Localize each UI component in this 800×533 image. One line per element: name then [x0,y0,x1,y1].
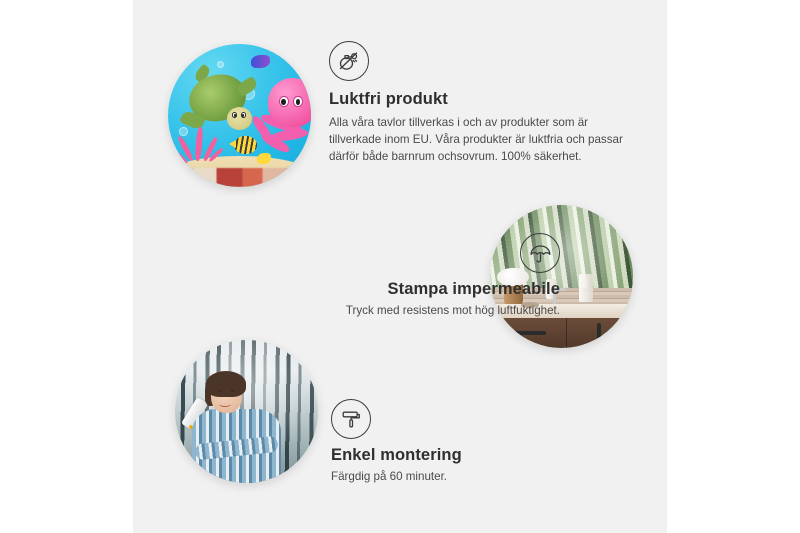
scene-bottom-strip [168,168,311,187]
woman-eye [231,390,234,392]
feature-title: Luktfri produkt [329,89,627,110]
feature-easy-mounting: Enkel montering Färgdig på 60 minuter. [331,399,611,486]
feature-waterproof: Stampa impermeabile Tryck med resistens … [219,233,560,320]
feature-odour-free: Luktfri produkt Alla våra tavlor tillver… [329,41,627,166]
octopus-head [268,78,311,127]
wood-cabinet [493,318,633,348]
woman-hair [206,371,246,397]
cabinet-seam [566,318,567,348]
coral-plant [177,127,226,170]
yellow-fish-icon [234,136,257,155]
turtle-head [227,107,253,130]
toiletry-bottle [579,274,593,303]
forest-mural-scene [175,340,318,483]
woman-with-paint-roller-photo [175,340,318,483]
feature-description: Färgdig på 60 minuter. [331,469,611,486]
turtle-eye [232,112,238,118]
door-handle [597,323,601,340]
paint-roller-icon [331,399,371,439]
feature-title: Stampa impermeabile [219,279,560,300]
octopus-eye [279,96,289,108]
drawer-handle [510,331,546,335]
page-root: Luktfri produkt Alla våra tavlor tillver… [0,0,800,533]
bubble-icon [217,61,224,68]
octopus-eye [293,96,303,108]
feature-description: Tryck med resistens mot hög luftfuktighe… [219,303,560,320]
no-odour-icon [329,41,369,81]
underwater-kids-mural-photo [168,44,311,187]
turtle-eye [241,112,247,118]
feature-title: Enkel montering [331,445,611,466]
feature-panel: Luktfri produkt Alla våra tavlor tillver… [133,0,667,533]
underwater-scene [168,44,311,187]
umbrella-icon [520,233,560,273]
woman-eye [218,390,221,392]
feature-description: Alla våra tavlor tillverkas i och av pro… [329,115,627,165]
